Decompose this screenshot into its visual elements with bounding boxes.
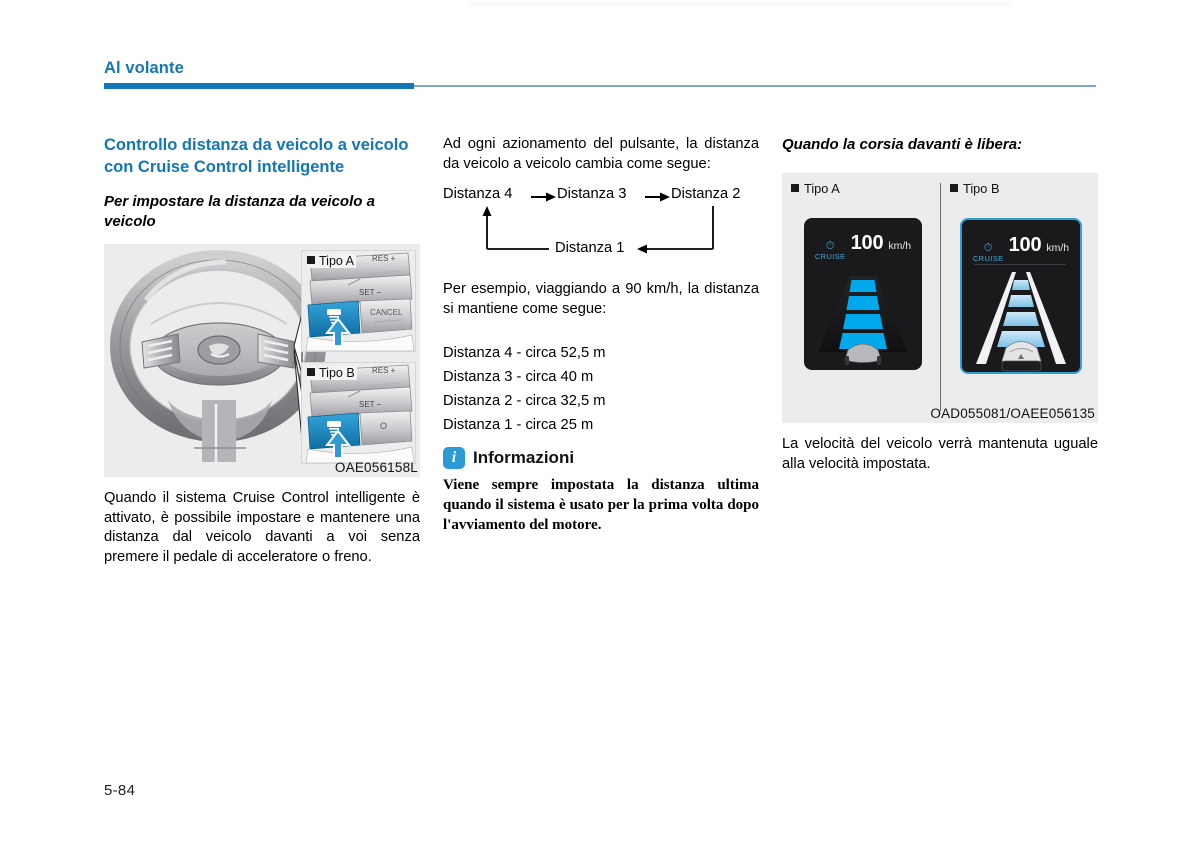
figure-cluster-displays: Tipo A Tipo B ⏱ CRUISE 100 km/h <box>782 173 1098 423</box>
right-body-paragraph: La velocità del veicolo verrà mantenuta … <box>782 435 1098 474</box>
distance-value-list: Distanza 4 - circa 52,5 m Distanza 3 - c… <box>443 341 759 437</box>
cruise-icon-b: ⏱ CRUISE <box>973 243 1004 263</box>
informazioni-body: Viene sempre impostata la distanza ultim… <box>443 475 759 535</box>
flow-node-distanza-2: Distanza 2 <box>671 186 740 202</box>
page-number: 5-84 <box>104 782 135 799</box>
middle-column: Ad ogni azionamento del pulsante, la dis… <box>443 135 759 535</box>
page-title: Al volante <box>104 58 1096 78</box>
page-header: Al volante <box>104 58 1096 98</box>
speed-unit-a: km/h <box>888 240 911 252</box>
cluster-display-tipo-b: ⏱ CRUISE 100 km/h <box>960 218 1082 374</box>
svg-text:SET −: SET − <box>359 288 382 297</box>
flow-node-distanza-4: Distanza 4 <box>443 186 512 202</box>
bullet-square-icon <box>307 368 315 376</box>
distance-item: Distanza 2 - circa 32,5 m <box>443 389 759 413</box>
pod-a-label: Tipo A <box>307 254 356 268</box>
callout-pod-tipo-b: RES + SET − O Tipo B <box>301 362 416 464</box>
distance-cycle-diagram: Distanza 4 Distanza 3 Distanza 2 Distanz… <box>443 186 759 264</box>
svg-text:RES +: RES + <box>372 366 396 375</box>
bullet-square-icon <box>791 184 799 192</box>
distance-item: Distanza 3 - circa 40 m <box>443 365 759 389</box>
informazioni-header: i Informazioni <box>443 447 759 469</box>
left-body-paragraph: Quando il sistema Cruise Control intelli… <box>104 489 420 567</box>
figure-divider <box>940 183 941 411</box>
figure-steering-wheel: RES + SET − CANCEL <box>104 244 420 477</box>
pod-b-label: Tipo B <box>307 366 357 380</box>
bullet-square-icon <box>950 184 958 192</box>
svg-text:O: O <box>380 421 387 431</box>
distance-bars-graphic-a <box>804 270 922 370</box>
cluster-b-label: Tipo B <box>950 181 1000 196</box>
callout-pod-tipo-a: RES + SET − CANCEL <box>301 250 416 352</box>
flow-node-distanza-3: Distanza 3 <box>557 186 626 202</box>
speed-readout-b: ⏱ CRUISE 100 km/h <box>962 234 1080 263</box>
speed-readout-a: ⏱ CRUISE 100 km/h <box>804 232 922 261</box>
middle-intro-paragraph: Ad ogni azionamento del pulsante, la dis… <box>443 135 759 174</box>
right-column: Quando la corsia davanti è libera: Tipo … <box>782 135 1098 486</box>
section-title-clear-lane: Quando la corsia davanti è libera: <box>782 135 1098 155</box>
info-icon: i <box>443 447 465 469</box>
distance-bars-graphic-b <box>962 264 1080 374</box>
speed-value-a: 100 <box>851 232 884 255</box>
distance-item: Distanza 1 - circa 25 m <box>443 413 759 437</box>
cluster-display-tipo-a: ⏱ CRUISE 100 km/h <box>804 218 922 370</box>
svg-text:RES +: RES + <box>372 254 396 263</box>
bullet-square-icon <box>307 256 315 264</box>
speed-value-b: 100 <box>1009 234 1042 257</box>
left-column: Controllo distanza da veicolo a veicolo … <box>104 135 420 579</box>
informazioni-title: Informazioni <box>473 448 574 468</box>
speed-unit-b: km/h <box>1046 242 1069 254</box>
scan-artifact <box>470 2 1010 6</box>
subsection-title-set-distance: Per impostare la distanza da veicolo a v… <box>104 192 420 232</box>
svg-text:CANCEL: CANCEL <box>370 308 403 317</box>
header-rule-accent <box>104 83 414 89</box>
cluster-a-label: Tipo A <box>791 181 840 196</box>
figure-caption-steering: OAE056158L <box>335 460 418 475</box>
figure-caption-clusters: OAD055081/OAEE056135 <box>930 406 1095 421</box>
section-title-cruise-distance: Controllo distanza da veicolo a veicolo … <box>104 135 420 178</box>
middle-example-paragraph: Per esempio, viaggiando a 90 km/h, la di… <box>443 280 759 319</box>
distance-item: Distanza 4 - circa 52,5 m <box>443 341 759 365</box>
flow-node-distanza-1: Distanza 1 <box>555 240 624 256</box>
cruise-icon-a: ⏱ CRUISE <box>815 241 846 261</box>
svg-text:SET −: SET − <box>359 400 382 409</box>
